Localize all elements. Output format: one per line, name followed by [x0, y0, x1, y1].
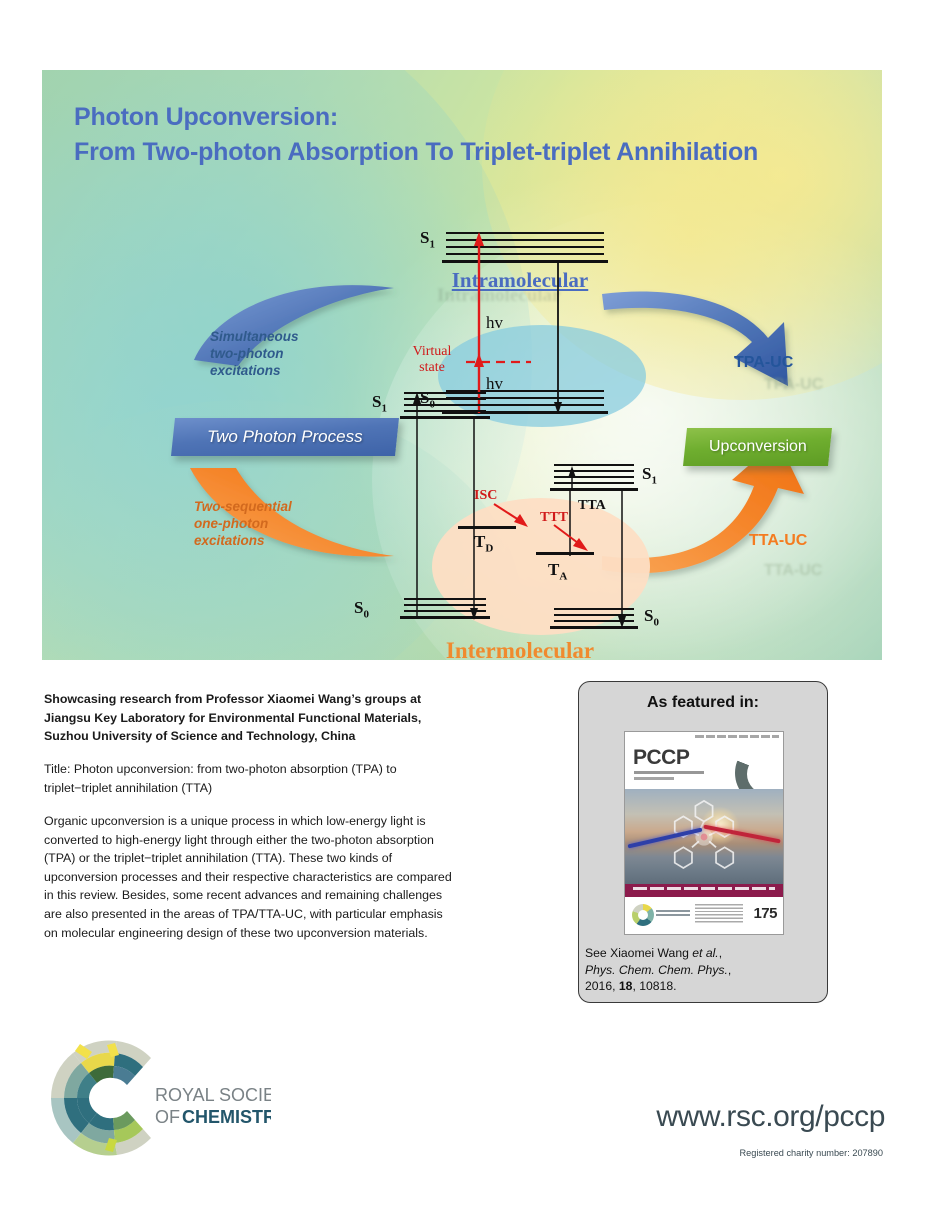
rsc-text-chemistry: CHEMISTRY — [182, 1107, 271, 1127]
featured-heading: As featured in: — [579, 694, 827, 712]
cover-rsc-logo-inner — [638, 910, 648, 920]
citation-journal: Phys. Chem. Chem. Phys. — [585, 963, 728, 977]
citation-volume: 18 — [619, 979, 633, 993]
cover-subtitle-line-1 — [634, 771, 704, 774]
ttt-label: TTT — [540, 510, 568, 526]
rsc-text-of: OF — [155, 1107, 180, 1127]
citation-comma-2: , — [728, 963, 731, 977]
cover-footer-microtext — [695, 904, 743, 924]
citation-caption: See Xiaomei Wang et al., Phys. Chem. Che… — [585, 945, 821, 995]
cover-rsc-logo-text — [656, 910, 690, 918]
citation-et-al: et al. — [692, 946, 718, 960]
cover-arc-inner — [747, 754, 784, 794]
citation-pages: , 10818. — [632, 979, 676, 993]
journal-cover-thumbnail[interactable]: PCCP 175 — [624, 731, 784, 935]
citation-see-author: See Xiaomei Wang — [585, 946, 692, 960]
citation-year: 2016, — [585, 979, 619, 993]
royal-society-of-chemistry-logo: ROYAL SOCIETY OF CHEMISTRY — [45, 1034, 271, 1162]
cover-anniversary-number: 175 — [753, 905, 777, 922]
cover-journal-logo: PCCP — [633, 746, 689, 770]
article-title-text: Title: Photon upconversion: from two-pho… — [44, 760, 464, 797]
showcase-text: Showcasing research from Professor Xiaom… — [44, 690, 464, 746]
article-abstract-text: Organic upconversion is a unique process… — [44, 812, 456, 942]
citation-comma-1: , — [719, 946, 722, 960]
rsc-text-royal-society: ROYAL SOCIETY — [155, 1085, 271, 1105]
intermolecular-label: Intermolecular — [400, 638, 640, 660]
cover-subtitle-line-2 — [634, 777, 674, 780]
graphical-abstract-image: Photon Upconversion: From Two-photon Abs… — [42, 70, 882, 660]
as-featured-in-panel: As featured in: PCCP — [578, 681, 828, 1003]
isc-label: ISC — [474, 488, 497, 504]
cover-header-microtext — [695, 735, 779, 738]
charity-number: Registered charity number: 207890 — [739, 1148, 883, 1158]
rsc-url[interactable]: www.rsc.org/pccp — [656, 1100, 885, 1134]
intermolecular-transition-arrows — [42, 70, 882, 660]
tta-label: TTA — [578, 498, 606, 514]
cover-theme-band-text — [633, 887, 775, 890]
